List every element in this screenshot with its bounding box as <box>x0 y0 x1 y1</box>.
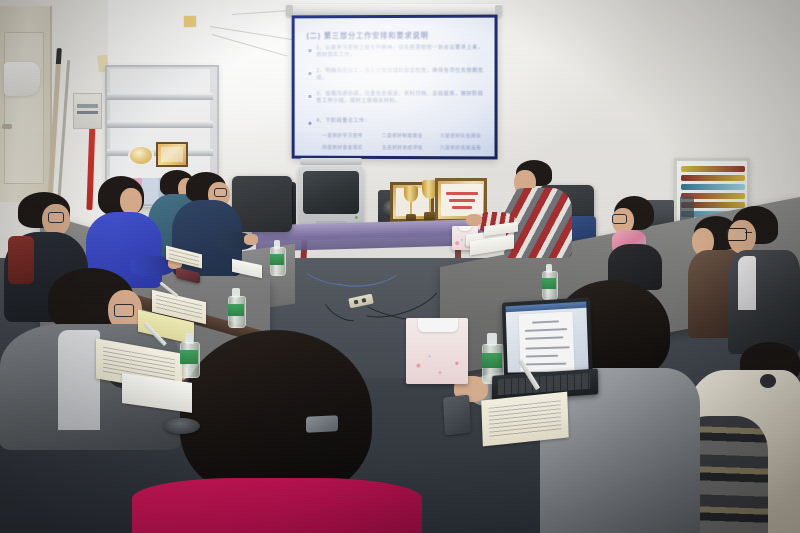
certificate-inner <box>441 184 483 216</box>
glasses-bridge <box>745 232 752 233</box>
doc-text-line <box>525 346 569 349</box>
housing-bracket-left <box>286 5 293 16</box>
bottle-label <box>542 278 556 289</box>
bullet-marker <box>308 72 311 75</box>
document-body <box>519 312 575 372</box>
trophy-stem <box>429 199 432 212</box>
door-handle[interactable] <box>2 124 12 129</box>
case-item <box>681 166 745 172</box>
trophy <box>404 186 418 222</box>
certificate-inner <box>161 147 183 162</box>
collar-detail <box>760 374 776 388</box>
water-bottle[interactable] <box>270 238 284 274</box>
shirt-collar <box>738 256 756 310</box>
notebook[interactable] <box>481 392 569 447</box>
bottle-label <box>180 350 198 364</box>
ashtray[interactable] <box>164 418 200 434</box>
trophy-stem <box>410 202 412 214</box>
door[interactable] <box>0 6 52 202</box>
meter-line <box>77 104 98 108</box>
dvd-player[interactable] <box>300 158 362 165</box>
bottle-label <box>228 304 244 316</box>
tissue-box[interactable] <box>406 318 468 384</box>
wall-mounted-fixture <box>4 62 40 96</box>
meeting-room-photo: (二) 第三部分工作安排和要求说明 1、认真学习贯彻上级文件精神，切实把思想统一… <box>0 0 800 533</box>
wall-meter-box <box>73 93 102 129</box>
case-item <box>681 175 745 181</box>
bullet-marker <box>308 122 311 125</box>
water-bottle[interactable] <box>228 286 244 326</box>
slide-bullet-3: 3、加强沟通协调，注重信息报送、资料归档、总结提炼，做好阶段性工作小结，按时上报… <box>316 91 488 106</box>
glasses-icon <box>114 304 134 317</box>
face <box>120 188 142 215</box>
tissue-box-pattern <box>406 338 468 384</box>
shirt-collar <box>58 330 100 430</box>
projection-screen: (二) 第三部分工作安排和要求说明 1、认真学习贯彻上级文件精神，切实把思想统一… <box>292 15 498 160</box>
slide-bullet-4: 4、下阶段重点工作： <box>316 118 426 125</box>
sticky-note <box>184 16 196 27</box>
glasses-icon <box>48 212 64 223</box>
trophy-cup <box>404 186 418 202</box>
glasses-icon <box>214 188 227 197</box>
commemorative-plate <box>128 145 154 166</box>
certificate-text-line <box>446 192 478 195</box>
meter-line <box>77 111 98 114</box>
presentation-slide: (二) 第三部分工作安排和要求说明 1、认真学习贯彻上级文件精神，切实把思想统一… <box>295 18 495 157</box>
glasses-icon <box>726 228 747 241</box>
hand <box>466 214 482 226</box>
shelf-board <box>107 121 213 128</box>
slide-grid-cell: 五是抓好总结评估 <box>382 145 423 151</box>
tissue-sheet[interactable] <box>458 226 472 231</box>
phone[interactable] <box>443 395 471 436</box>
water-bottle[interactable] <box>542 262 556 298</box>
power-led-icon <box>355 216 358 219</box>
person-observer-grey <box>728 206 800 356</box>
framed-certificate <box>156 142 188 167</box>
phone[interactable] <box>306 415 338 433</box>
slide-title: (二) 第三部分工作安排和要求说明 <box>307 31 429 41</box>
water-bottle[interactable] <box>180 330 198 376</box>
door-panel <box>4 32 44 184</box>
slide-grid-cell: 六是抓好成果运用 <box>440 145 481 151</box>
bullet-marker <box>308 49 311 52</box>
crt-screen <box>303 171 359 214</box>
slide-grid-cell: 三是抓好队伍建设 <box>440 133 481 139</box>
keyboard[interactable] <box>498 373 590 395</box>
doc-text-line <box>525 336 563 339</box>
person-observer-scarf <box>608 196 664 288</box>
doc-heading-line <box>532 320 559 323</box>
power-socket[interactable] <box>362 298 367 303</box>
bottle-label <box>270 254 284 265</box>
power-socket[interactable] <box>354 300 359 305</box>
bottle-label <box>482 353 502 369</box>
pink-top <box>132 478 422 533</box>
case-item <box>681 184 745 190</box>
slide-bullet-2: 2、明确责任分工，强化过程管理和督促检查，确保各项任务按期完成。 <box>316 68 484 83</box>
shelf-board <box>107 93 213 100</box>
water-bottle[interactable] <box>482 330 502 382</box>
notebook-lines <box>488 401 561 441</box>
hair <box>180 330 372 498</box>
laptop-lid <box>502 297 593 380</box>
bullet-marker <box>308 95 311 98</box>
slide-grid-cell: 二是抓好制度建设 <box>382 133 423 139</box>
glasses-icon <box>612 214 627 224</box>
hand <box>244 234 258 245</box>
crt-monitor <box>298 166 364 226</box>
window-titlebar <box>506 302 587 313</box>
doc-text-line <box>526 355 559 357</box>
slide-grid-cell: 一是抓好学习宣传 <box>322 133 362 139</box>
doc-text-line <box>526 363 566 365</box>
trophy-base <box>406 214 416 221</box>
slide-grid-cell: 四是抓好督查落实 <box>322 145 362 151</box>
slide-bullet-1: 1、认真学习贯彻上级文件精神，切实把思想统一到会议要求上来，抓好落实工作。 <box>316 45 484 60</box>
doc-text-line <box>525 328 567 331</box>
certificate-text-line <box>452 206 472 209</box>
certificate-text-line <box>449 199 475 202</box>
tissue-sheet[interactable] <box>418 318 458 332</box>
